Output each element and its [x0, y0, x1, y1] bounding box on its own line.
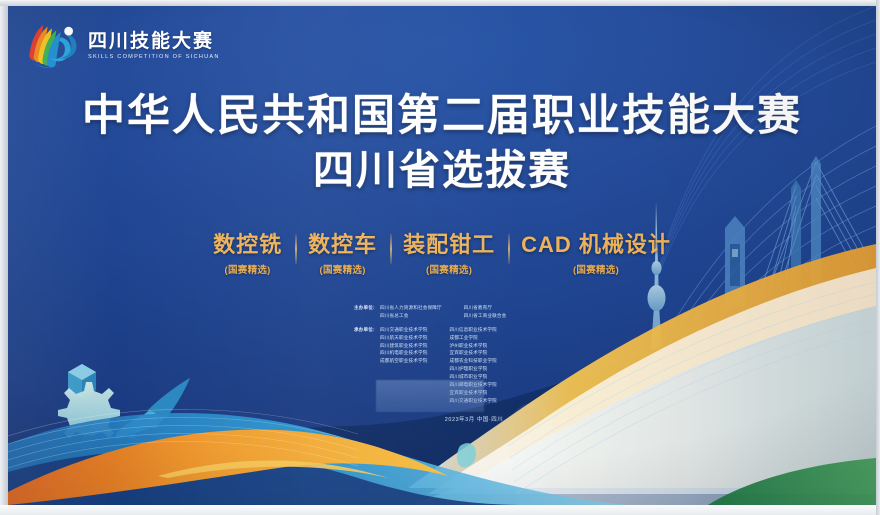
organizer-org: 四川交通职业技术学院: [380, 326, 427, 334]
organizer-org: 四川机电职业技术学院: [380, 349, 427, 357]
sichuan-skills-logo-icon: [24, 18, 80, 74]
category-subtitle: (国赛精选): [213, 262, 282, 276]
category-subtitle: (国赛精选): [308, 262, 377, 276]
event-banner: 四川技能大赛 SKILLS COMPETITION OF SICHUAN 中华人…: [8, 6, 876, 505]
obscured-region: [376, 380, 484, 412]
organizer-org: 四川航天职业技术学院: [380, 334, 427, 342]
organizer-org: 四川建筑职业技术学院: [380, 342, 427, 350]
title-block: 中华人民共和国第二届职业技能大赛 四川省选拔赛: [8, 92, 876, 195]
organizer-org: 成都农业科技职业学院: [449, 357, 496, 365]
photo-edge-bottom: [0, 505, 880, 515]
banner-photo: 四川技能大赛 SKILLS COMPETITION OF SICHUAN 中华人…: [0, 0, 880, 515]
rocket-icon: [116, 378, 190, 472]
category-item: CAD 机械设计 (国赛精选): [508, 232, 684, 276]
organizer-org: 四川护理职业学院: [449, 365, 496, 373]
host-label: 主办单位:: [354, 304, 380, 320]
logo-chinese-name: 四川技能大赛: [88, 32, 220, 52]
category-item: 数控车 (国赛精选): [295, 232, 390, 276]
organizer-org: 宜宾职业技术学院: [449, 349, 496, 357]
main-title-line2: 四川省选拔赛: [8, 146, 876, 195]
category-subtitle: (国赛精选): [521, 262, 671, 276]
host-column-1: 四川省人力资源和社会保障厅 四川省总工会: [380, 304, 442, 320]
photo-edge-top: [0, 0, 880, 6]
category-item: 数控铣 (国赛精选): [200, 232, 295, 276]
host-org: 四川省总工会: [380, 312, 442, 320]
main-title-line1: 中华人民共和国第二届职业技能大赛: [8, 92, 876, 140]
leaf-shape: [457, 443, 476, 467]
gear-icon: [58, 382, 120, 453]
organizer-org: 成都工业学院: [449, 334, 496, 342]
category-list: 数控铣 (国赛精选) 数控车 (国赛精选) 装配钳工 (国赛精选) CAD 机械…: [8, 232, 876, 276]
category-name: 数控铣: [213, 232, 282, 259]
organizer-org: 四川信息职业技术学院: [449, 326, 496, 334]
host-org: 四川省人力资源和社会保障厅: [380, 304, 442, 312]
host-org: 四川省工商业联合会: [464, 312, 507, 320]
category-name: 数控车: [308, 232, 377, 259]
category-item: 装配钳工 (国赛精选): [390, 232, 508, 276]
organizer-org: 成都航空职业技术学院: [380, 357, 427, 365]
logo-english-name: SKILLS COMPETITION OF SICHUAN: [88, 54, 220, 60]
photo-edge-left: [0, 0, 8, 515]
host-block: 主办单位: 四川省人力资源和社会保障厅 四川省总工会 四川省教育厅 四川省工商业…: [354, 304, 594, 320]
category-subtitle: (国赛精选): [403, 262, 495, 276]
photo-edge-right: [876, 0, 880, 515]
race-car-icon: [584, 451, 670, 482]
date-location-line: 2023年3月 中国·四川: [354, 415, 594, 423]
category-name: CAD 机械设计: [521, 232, 671, 259]
event-logo: 四川技能大赛 SKILLS COMPETITION OF SICHUAN: [24, 18, 220, 74]
organizer-org: 泸州职业技术学院: [449, 342, 496, 350]
cube-icon: [68, 364, 96, 398]
category-name: 装配钳工: [403, 232, 495, 259]
host-column-2: 四川省教育厅 四川省工商业联合会: [464, 304, 507, 320]
host-org: 四川省教育厅: [464, 304, 507, 312]
